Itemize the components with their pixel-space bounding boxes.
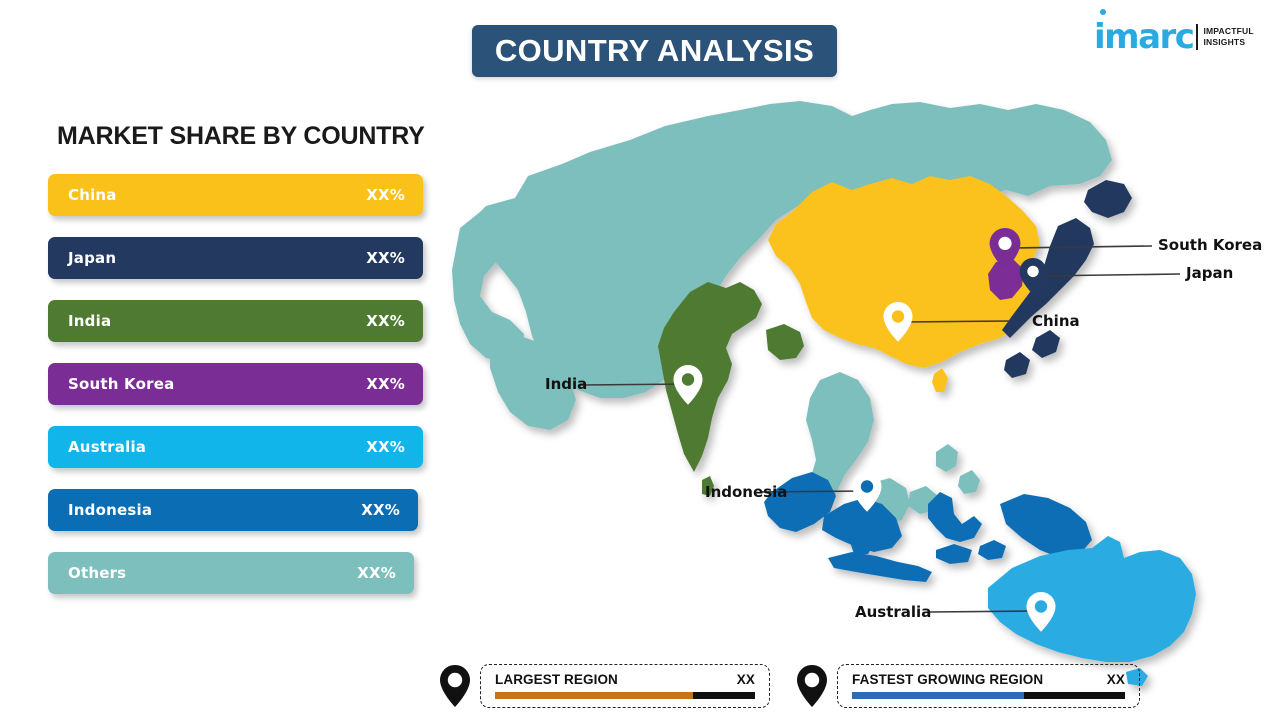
largest-region-progress-fill bbox=[495, 692, 693, 699]
market-share-bar-label: South Korea bbox=[68, 375, 174, 393]
market-share-bar[interactable]: OthersXX% bbox=[48, 552, 414, 594]
map-region-indonesia-java bbox=[828, 552, 932, 582]
location-pin-icon bbox=[795, 664, 829, 708]
fastest-region-callout: FASTEST GROWING REGION XX bbox=[795, 664, 1140, 708]
logo-divider bbox=[1196, 24, 1198, 50]
market-share-bar-label: Others bbox=[68, 564, 126, 582]
panel-heading: MARKET SHARE BY COUNTRY bbox=[57, 122, 425, 151]
market-share-bar-value: XX% bbox=[361, 501, 400, 519]
fastest-region-label: FASTEST GROWING REGION bbox=[852, 672, 1043, 687]
market-share-bar[interactable]: ChinaXX% bbox=[48, 174, 423, 216]
largest-region-value: XX bbox=[737, 672, 755, 687]
map-label-japan: Japan bbox=[1186, 264, 1233, 282]
map-region-indonesia-sulawesi bbox=[928, 492, 982, 542]
slide-canvas: imarc IMPACTFUL INSIGHTS COUNTRY ANALYSI… bbox=[0, 0, 1280, 720]
location-pin-icon bbox=[438, 664, 472, 708]
fastest-region-progress-fill bbox=[852, 692, 1024, 699]
market-share-bar[interactable]: IndonesiaXX% bbox=[48, 489, 418, 531]
market-share-bar-label: China bbox=[68, 186, 117, 204]
leader-line-china bbox=[902, 321, 1010, 322]
fastest-region-progress-track bbox=[852, 692, 1125, 699]
market-share-bar-value: XX% bbox=[366, 312, 405, 330]
logo-tagline: IMPACTFUL INSIGHTS bbox=[1203, 26, 1253, 48]
asia-pacific-map bbox=[440, 80, 1240, 650]
map-label-india: India bbox=[545, 375, 587, 393]
map-label-south-korea: South Korea bbox=[1158, 236, 1262, 254]
market-share-bar-label: Australia bbox=[68, 438, 146, 456]
map-label-china: China bbox=[1032, 312, 1080, 330]
map-label-australia: Australia bbox=[855, 603, 931, 621]
market-share-bar-value: XX% bbox=[366, 186, 405, 204]
market-share-bar-label: India bbox=[68, 312, 111, 330]
market-share-bar[interactable]: South KoreaXX% bbox=[48, 363, 423, 405]
map-region-taiwan bbox=[932, 368, 948, 392]
market-share-bar[interactable]: JapanXX% bbox=[48, 237, 423, 279]
largest-region-box: LARGEST REGION XX bbox=[480, 664, 770, 708]
market-share-bar-value: XX% bbox=[366, 375, 405, 393]
fastest-region-value: XX bbox=[1107, 672, 1125, 687]
largest-region-progress-track bbox=[495, 692, 755, 699]
page-title-banner: COUNTRY ANALYSIS bbox=[472, 25, 837, 77]
market-share-bar-value: XX% bbox=[366, 249, 405, 267]
leader-line-australia bbox=[930, 611, 1036, 612]
market-share-bar-value: XX% bbox=[357, 564, 396, 582]
imarc-logo: imarc IMPACTFUL INSIGHTS bbox=[1094, 16, 1264, 58]
largest-region-label: LARGEST REGION bbox=[495, 672, 618, 687]
map-region-indonesia-papua bbox=[1000, 494, 1092, 558]
map-label-indonesia: Indonesia bbox=[705, 483, 787, 501]
market-share-bar-label: Japan bbox=[68, 249, 116, 267]
market-share-bar[interactable]: IndiaXX% bbox=[48, 300, 423, 342]
fastest-region-box: FASTEST GROWING REGION XX bbox=[837, 664, 1140, 708]
market-share-bar[interactable]: AustraliaXX% bbox=[48, 426, 423, 468]
map-region-australia bbox=[988, 536, 1196, 662]
market-share-bar-value: XX% bbox=[366, 438, 405, 456]
logo-tagline-line2: INSIGHTS bbox=[1203, 37, 1253, 48]
market-share-bar-label: Indonesia bbox=[68, 501, 152, 519]
logo-dot-icon bbox=[1100, 9, 1106, 15]
page-title: COUNTRY ANALYSIS bbox=[495, 33, 814, 69]
market-share-bar-list: ChinaXX%JapanXX%IndiaXX%South KoreaXX%Au… bbox=[48, 174, 438, 615]
map-region-india-northeast bbox=[766, 324, 804, 360]
logo-wordmark: imarc bbox=[1094, 20, 1193, 54]
largest-region-callout: LARGEST REGION XX bbox=[438, 664, 770, 708]
logo-tagline-line1: IMPACTFUL bbox=[1203, 26, 1253, 37]
